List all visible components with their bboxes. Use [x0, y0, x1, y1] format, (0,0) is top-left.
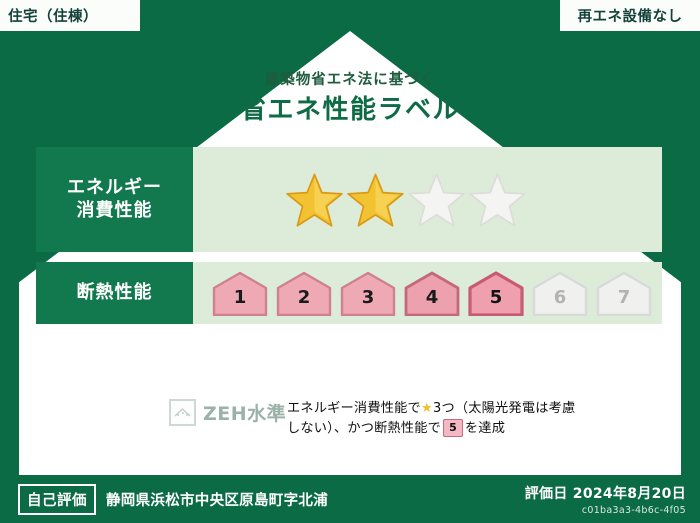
description-part3: を達成 [465, 421, 505, 436]
insulation-level-6: 6 [531, 270, 589, 316]
energy-performance-row: エネルギー 消費性能 [36, 147, 662, 252]
insulation-level-4-number: 4 [426, 289, 439, 316]
page-title: 省エネ性能ラベル [19, 89, 681, 126]
label-content: 建築物省エネ法に基づく 省エネ性能ラベル エネルギー 消費性能 [19, 31, 681, 492]
insulation-performance-label-cell: 断熱性能 [36, 262, 193, 324]
star-icon-empty-3 [408, 172, 465, 227]
insulation-level-4: 4 [403, 270, 461, 316]
insulation-performance-row: 断熱性能 1 2 3 [36, 262, 662, 324]
footer-right-block: 評価日 2024年8月20日 c01ba3a3-4b6c-4f05 [525, 483, 686, 516]
house-icon [169, 399, 196, 426]
insulation-level-3: 3 [339, 270, 397, 316]
self-evaluation-badge: 自己評価 [18, 484, 96, 515]
star-rating [193, 172, 526, 227]
description-part1: エネルギー消費性能で [287, 401, 421, 416]
insulation-level-6-number: 6 [554, 289, 567, 316]
energy-performance-label: 住宅（住棟） 再エネ設備なし 建築物省エネ法に基づく 省エネ性能ラベル エネルギ… [0, 0, 700, 523]
energy-performance-value-cell [193, 147, 662, 252]
insulation-level-3-number: 3 [362, 289, 375, 316]
insulation-level-7: 7 [595, 270, 653, 316]
label-id-code: c01ba3a3-4b6c-4f05 [525, 505, 686, 516]
insulation-level-1: 1 [211, 270, 269, 316]
zeh-standard-indicator: ZEH水準 [169, 399, 286, 426]
energy-performance-label-cell: エネルギー 消費性能 [36, 147, 193, 252]
insulation-level-2: 2 [275, 270, 333, 316]
insulation-level-1-number: 1 [234, 289, 247, 316]
insulation-level-7-number: 7 [618, 289, 631, 316]
inline-insulation-badge: 5 [443, 419, 463, 437]
renewable-equipment-tag: 再エネ設備なし [560, 0, 700, 31]
evaluation-date: 評価日 2024年8月20日 [525, 483, 686, 503]
achievement-description: エネルギー消費性能で★3つ（太陽光発電は考慮しない）、かつ断熱性能で5を達成 [287, 399, 587, 440]
star-icon-filled-2 [347, 172, 404, 227]
insulation-level-scale: 1 2 3 4 [193, 270, 653, 316]
label-footer: 自己評価 静岡県浜松市中央区原島町字北浦 評価日 2024年8月20日 c01b… [0, 475, 700, 523]
energy-label-line2: 消費性能 [77, 200, 153, 223]
star-icon-empty-4 [469, 172, 526, 227]
energy-label-line1: エネルギー [67, 177, 162, 200]
zeh-label: ZEH水準 [203, 399, 286, 426]
insulation-performance-value-cell: 1 2 3 4 [193, 262, 662, 324]
insulation-level-2-number: 2 [298, 289, 311, 316]
insulation-level-5-achieved: 5 [467, 270, 525, 316]
inline-star-icon: ★ [421, 401, 433, 416]
insulation-level-5-number: 5 [490, 289, 503, 316]
building-type-tag: 住宅（住棟） [0, 0, 140, 31]
star-icon-filled-1 [286, 172, 343, 227]
property-address: 静岡県浜松市中央区原島町字北浦 [106, 489, 328, 510]
title-subtitle: 建築物省エネ法に基づく [19, 68, 681, 89]
